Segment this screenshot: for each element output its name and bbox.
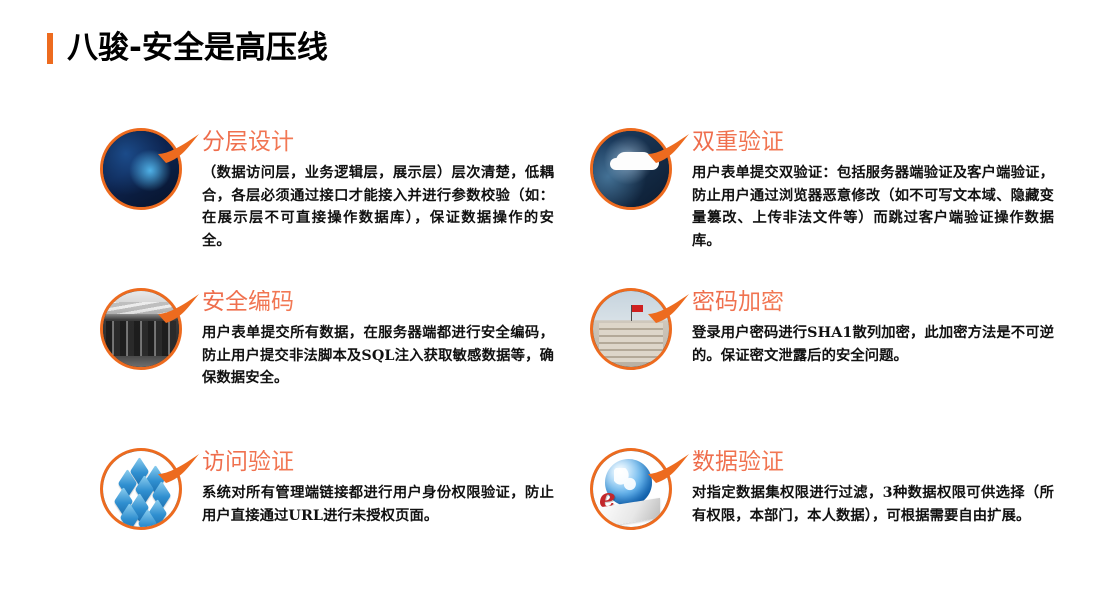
cloud-touch-icon — [590, 128, 672, 210]
feature-body: 用户表单提交所有数据，在服务器端都进行安全编码，防止用户提交非法脚本及SQL注入… — [202, 322, 554, 390]
feature-text: 安全编码 用户表单提交所有数据，在服务器端都进行安全编码，防止用户提交非法脚本及… — [194, 286, 555, 390]
feature-block-access-validation: 访问验证 系统对所有管理端链接都进行用户身份权限验证，防止用户直接通过URL进行… — [100, 446, 555, 536]
feature-heading: 双重验证 — [692, 130, 1060, 155]
feature-icon-wrap — [100, 446, 194, 536]
feature-body: 对指定数据集权限进行过滤，3种数据权限可供选择（所有权限，本部门，本人数据），可… — [692, 482, 1054, 527]
feature-text: 数据验证 对指定数据集权限进行过滤，3种数据权限可供选择（所有权限，本部门，本人… — [684, 446, 1060, 527]
feature-block-dual-validation: 双重验证 用户表单提交双验证：包括服务器端验证及客户端验证，防止用户通过浏览器恶… — [590, 126, 1060, 253]
feature-icon-wrap — [100, 286, 194, 376]
feature-body: 系统对所有管理端链接都进行用户身份权限验证，防止用户直接通过URL进行未授权页面… — [202, 482, 554, 527]
feature-heading: 密码加密 — [692, 290, 1060, 315]
globe-browser-icon: e — [590, 448, 672, 530]
feature-text: 访问验证 系统对所有管理端链接都进行用户身份权限验证，防止用户直接通过URL进行… — [194, 446, 555, 527]
feature-block-password-encryption: 密码加密 登录用户密码进行SHA1散列加密，此加密方法是不可逆的。保证密文泄露后… — [590, 286, 1060, 376]
feature-body: 用户表单提交双验证：包括服务器端验证及客户端验证，防止用户通过浏览器恶意修改（如… — [692, 162, 1054, 252]
feature-heading: 数据验证 — [692, 450, 1060, 475]
feature-text: 密码加密 登录用户密码进行SHA1散列加密，此加密方法是不可逆的。保证密文泄露后… — [684, 286, 1060, 367]
feature-icon-wrap — [590, 126, 684, 216]
feature-text: 分层设计 （数据访问层，业务逻辑层，展示层）层次清楚，低耦合，各层必须通过接口才… — [194, 126, 555, 253]
server-rack-icon — [100, 288, 182, 370]
feature-block-secure-encoding: 安全编码 用户表单提交所有数据，在服务器端都进行安全编码，防止用户提交非法脚本及… — [100, 286, 555, 390]
feature-body: （数据访问层，业务逻辑层，展示层）层次清楚，低耦合，各层必须通过接口才能接入并进… — [202, 162, 554, 252]
feature-text: 双重验证 用户表单提交双验证：包括服务器端验证及客户端验证，防止用户通过浏览器恶… — [684, 126, 1060, 253]
feature-icon-wrap — [100, 126, 194, 216]
blue-cubes-icon — [100, 448, 182, 530]
feature-body: 登录用户密码进行SHA1散列加密，此加密方法是不可逆的。保证密文泄露后的安全问题… — [692, 322, 1054, 367]
feature-heading: 访问验证 — [202, 450, 555, 475]
feature-icon-wrap: e — [590, 446, 684, 536]
feature-block-layered-design: 分层设计 （数据访问层，业务逻辑层，展示层）层次清楚，低耦合，各层必须通过接口才… — [100, 126, 555, 253]
feature-grid: 分层设计 （数据访问层，业务逻辑层，展示层）层次清楚，低耦合，各层必须通过接口才… — [0, 0, 1094, 594]
feature-heading: 分层设计 — [202, 130, 555, 155]
network-cloud-icon — [100, 128, 182, 210]
feature-block-data-validation: e 数据验证 对指定数据集权限进行过滤，3种数据权限可供选择（所有权限，本部门，… — [590, 446, 1060, 536]
government-building-icon — [590, 288, 672, 370]
feature-icon-wrap — [590, 286, 684, 376]
feature-heading: 安全编码 — [202, 290, 555, 315]
